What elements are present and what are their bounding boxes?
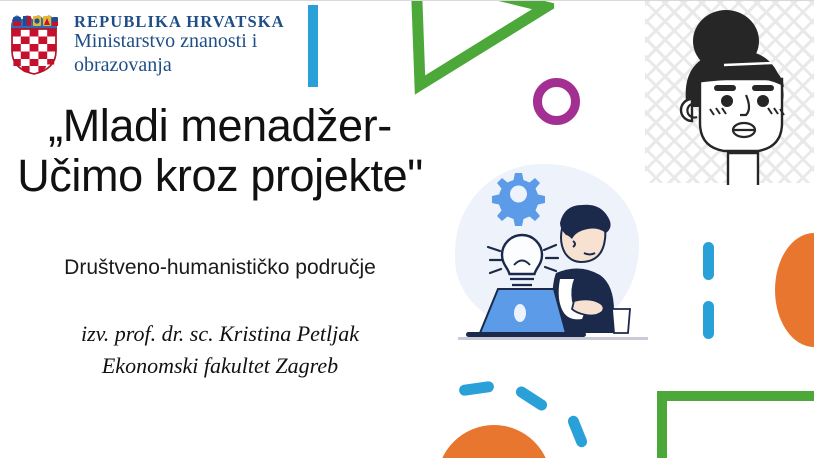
illustration-background-blob: [455, 164, 639, 336]
blue-dash: [703, 242, 714, 280]
blue-dash: [458, 381, 494, 397]
orange-half-dome: [437, 425, 551, 458]
slide-subtitle: Društveno-humanističko područje: [10, 256, 430, 280]
lightbulb-rays-icon: [488, 245, 558, 273]
green-corner-line: [657, 391, 814, 458]
croatian-coat-of-arms-icon: [8, 7, 60, 75]
slide-title: „Mladi menadžer-Učimo kroz projekte": [10, 101, 430, 202]
presentation-slide: REPUBLIKA HRVATSKA Ministarstvo znanosti…: [0, 0, 814, 458]
face-with-bun-illustration: [648, 5, 814, 185]
logo-line-ministry: Ministarstvo znanosti i obrazovanja: [74, 30, 314, 77]
author-name: izv. prof. dr. sc. Kristina Petljak: [10, 318, 430, 350]
laptop-icon: [466, 289, 586, 337]
green-open-triangle-icon: [404, 0, 554, 97]
lightbulb-icon: [502, 235, 542, 291]
person-at-laptop-illustration: [452, 161, 652, 346]
blue-dash: [703, 301, 714, 339]
crosshatch-pattern-panel: [645, 1, 814, 183]
purple-ring-icon: [533, 78, 580, 125]
person-figure: [552, 205, 630, 333]
blue-dash: [514, 384, 549, 412]
ministry-logo: REPUBLIKA HRVATSKA Ministarstvo znanosti…: [8, 7, 314, 78]
author-block: izv. prof. dr. sc. Kristina Petljak Ekon…: [10, 318, 430, 382]
blue-dash: [566, 414, 589, 449]
orange-half-disc: [775, 233, 814, 347]
logo-line-republic: REPUBLIKA HRVATSKA: [74, 13, 314, 30]
gear-icon: [492, 173, 545, 226]
author-affiliation: Ekonomski fakultet Zagreb: [10, 350, 430, 382]
